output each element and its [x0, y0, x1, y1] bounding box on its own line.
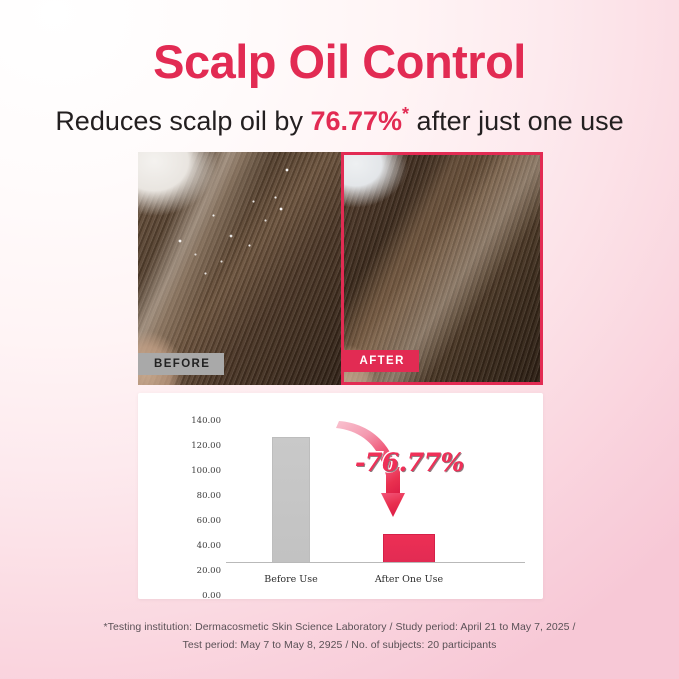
y-tick-label: 0.00 [161, 591, 221, 601]
x-tick-label-before: Before Use [264, 574, 318, 585]
subtitle-suffix: after just one use [409, 106, 624, 136]
x-axis-line [226, 562, 525, 563]
decrease-percentage-label: -76.77% [355, 448, 464, 477]
bar-before-use [272, 437, 310, 563]
before-photo: BEFORE [138, 152, 341, 385]
subtitle-highlight: 76.77% [310, 106, 402, 136]
oil-flakes-overlay [138, 152, 341, 385]
y-tick-label: 100.00 [161, 466, 221, 476]
y-tick-label: 120.00 [161, 441, 221, 451]
chart-card: 140.00 120.00 100.00 80.00 60.00 40.00 2… [138, 393, 543, 599]
hair-gloss-overlay [344, 155, 541, 382]
before-badge: BEFORE [138, 353, 224, 375]
y-tick-label: 40.00 [161, 541, 221, 551]
y-tick-label: 60.00 [161, 516, 221, 526]
before-after-comparison: BEFORE AFTER [138, 152, 543, 385]
subtitle: Reduces scalp oil by 76.77%* after just … [0, 104, 679, 137]
decrease-arrow-icon [333, 417, 463, 547]
page-title: Scalp Oil Control [0, 36, 679, 89]
footnote-line-2: Test period: May 7 to May 8, 2925 / No. … [0, 636, 679, 654]
bar-after-one-use [383, 534, 435, 563]
subtitle-prefix: Reduces scalp oil by [55, 106, 310, 136]
promo-infographic: Scalp Oil Control Reduces scalp oil by 7… [0, 0, 679, 679]
y-tick-label: 20.00 [161, 566, 221, 576]
footnote: *Testing institution: Dermacosmetic Skin… [0, 618, 679, 655]
footnote-line-1: *Testing institution: Dermacosmetic Skin… [0, 618, 679, 636]
bar-chart: 140.00 120.00 100.00 80.00 60.00 40.00 2… [138, 393, 543, 599]
after-photo: AFTER [341, 152, 544, 385]
subtitle-asterisk: * [402, 104, 409, 124]
after-badge: AFTER [344, 350, 419, 372]
y-tick-label: 80.00 [161, 491, 221, 501]
x-tick-label-after: After One Use [375, 574, 443, 585]
y-tick-label: 140.00 [161, 416, 221, 426]
